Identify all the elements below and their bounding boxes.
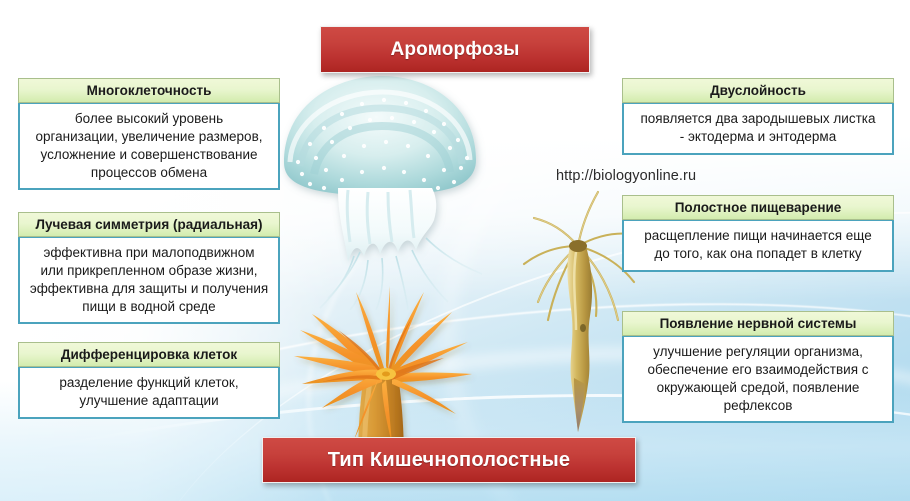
card-body-cavity-digestion: расщепление пищи начинается еще до того,… xyxy=(622,220,894,272)
card-nervous-system: Появление нервной системы улучшение регу… xyxy=(622,311,894,423)
card-heading-multicellularity: Многоклеточность xyxy=(18,78,280,103)
card-heading-radial-symmetry: Лучевая симметрия (радиальная) xyxy=(18,212,280,237)
slide-canvas: Ароморфозы http://biologyonline.ru Много… xyxy=(0,0,910,501)
card-body-two-layers: появляется два зародышевых листка - экто… xyxy=(622,103,894,155)
card-cavity-digestion: Полостное пищеварение расщепление пищи н… xyxy=(622,195,894,272)
source-url[interactable]: http://biologyonline.ru xyxy=(556,168,696,184)
card-body-multicellularity: более высокий уровень организации, увели… xyxy=(18,103,280,190)
card-body-cell-differentiation: разделение функций клеток, улучшение ада… xyxy=(18,367,280,419)
title-banner-aromorphoses: Ароморфозы xyxy=(320,26,590,73)
card-heading-cell-differentiation: Дифференцировка клеток xyxy=(18,342,280,367)
card-two-layers: Двуслойность появляется два зародышевых … xyxy=(622,78,894,155)
card-cell-differentiation: Дифференцировка клеток разделение функци… xyxy=(18,342,280,419)
card-radial-symmetry: Лучевая симметрия (радиальная) эффективн… xyxy=(18,212,280,324)
card-heading-nervous-system: Появление нервной системы xyxy=(622,311,894,336)
title-banner-coelenterates: Тип Кишечнополостные xyxy=(262,437,636,483)
card-multicellularity: Многоклеточность более высокий уровень о… xyxy=(18,78,280,190)
card-body-nervous-system: улучшение регуляции организма, обеспечен… xyxy=(622,336,894,423)
card-heading-two-layers: Двуслойность xyxy=(622,78,894,103)
card-body-radial-symmetry: эффективна при малоподвижном или прикреп… xyxy=(18,237,280,324)
card-heading-cavity-digestion: Полостное пищеварение xyxy=(622,195,894,220)
